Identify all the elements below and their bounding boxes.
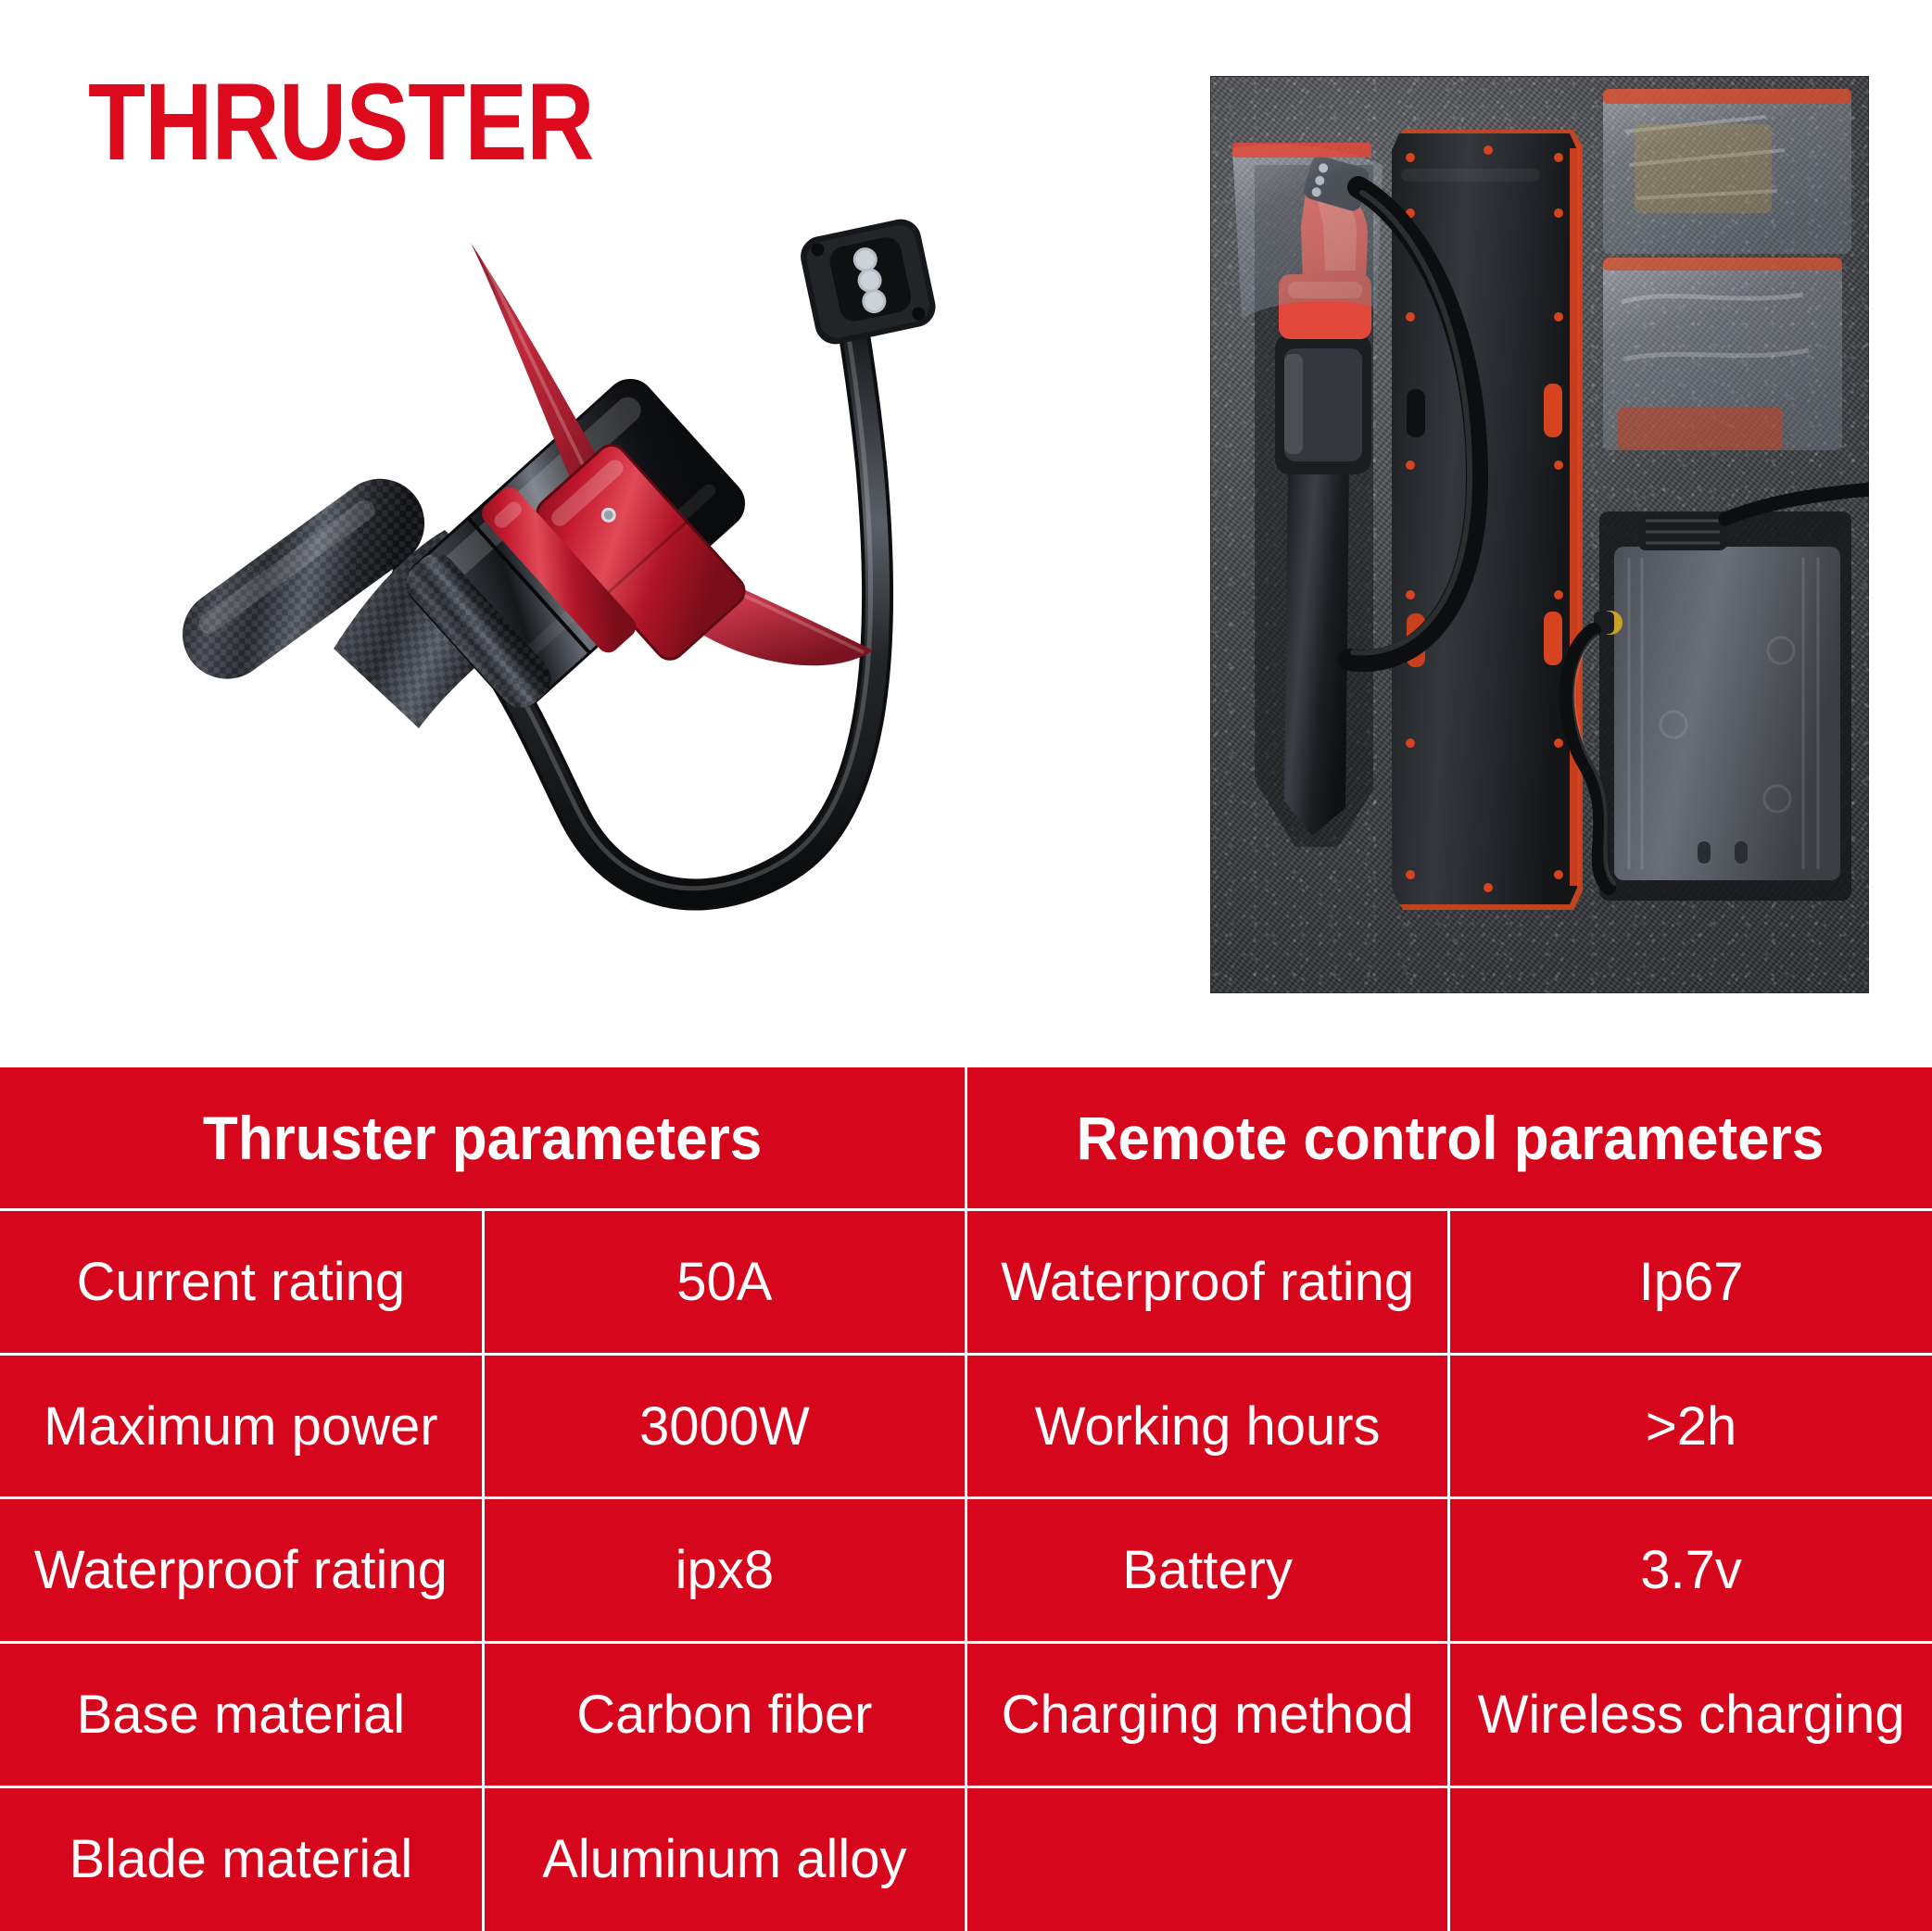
thruster-param-label: Waterproof rating [0, 1498, 483, 1643]
remote-param-label: Waterproof rating [966, 1210, 1449, 1355]
header-thruster-parameters: Thruster parameters [29, 1067, 937, 1210]
table-row: Blade material Aluminum alloy [0, 1786, 1932, 1931]
remote-param-label [966, 1786, 1449, 1931]
carry-case-photo [1210, 76, 1869, 993]
remote-param-label: Charging method [966, 1643, 1449, 1787]
table-row: Maximum power 3000W Working hours >2h [0, 1354, 1932, 1498]
thruster-param-label: Blade material [0, 1786, 483, 1931]
remote-param-value: Ip67 [1449, 1210, 1932, 1355]
thruster-param-label: Current rating [0, 1210, 483, 1355]
specifications-table: Thruster parameters Remote control param… [0, 1067, 1932, 1931]
table-row: Base material Carbon fiber Charging meth… [0, 1643, 1932, 1787]
thruster-param-value: Aluminum alloy [483, 1786, 966, 1931]
table-row: Current rating 50A Waterproof rating Ip6… [0, 1210, 1932, 1355]
table-row: Waterproof rating ipx8 Battery 3.7v [0, 1498, 1932, 1643]
remote-param-value: 3.7v [1449, 1498, 1932, 1643]
header-remote-control-parameters: Remote control parameters [995, 1067, 1903, 1210]
thruster-param-value: 3000W [483, 1354, 966, 1498]
thruster-param-label: Base material [0, 1643, 483, 1787]
table-header-row: Thruster parameters Remote control param… [0, 1067, 1932, 1210]
thruster-param-value: ipx8 [483, 1498, 966, 1643]
remote-param-value [1449, 1786, 1932, 1931]
thruster-param-value: Carbon fiber [483, 1643, 966, 1787]
thruster-product-photo [56, 185, 1205, 1019]
page-title: THRUSTER [88, 68, 594, 177]
hero-section: THRUSTER [0, 0, 1932, 1067]
remote-param-value: >2h [1449, 1354, 1932, 1498]
remote-param-label: Battery [966, 1498, 1449, 1643]
thruster-param-label: Maximum power [0, 1354, 483, 1498]
thruster-param-value: 50A [483, 1210, 966, 1355]
remote-param-value: Wireless charging [1449, 1643, 1932, 1787]
remote-param-label: Working hours [966, 1354, 1449, 1498]
